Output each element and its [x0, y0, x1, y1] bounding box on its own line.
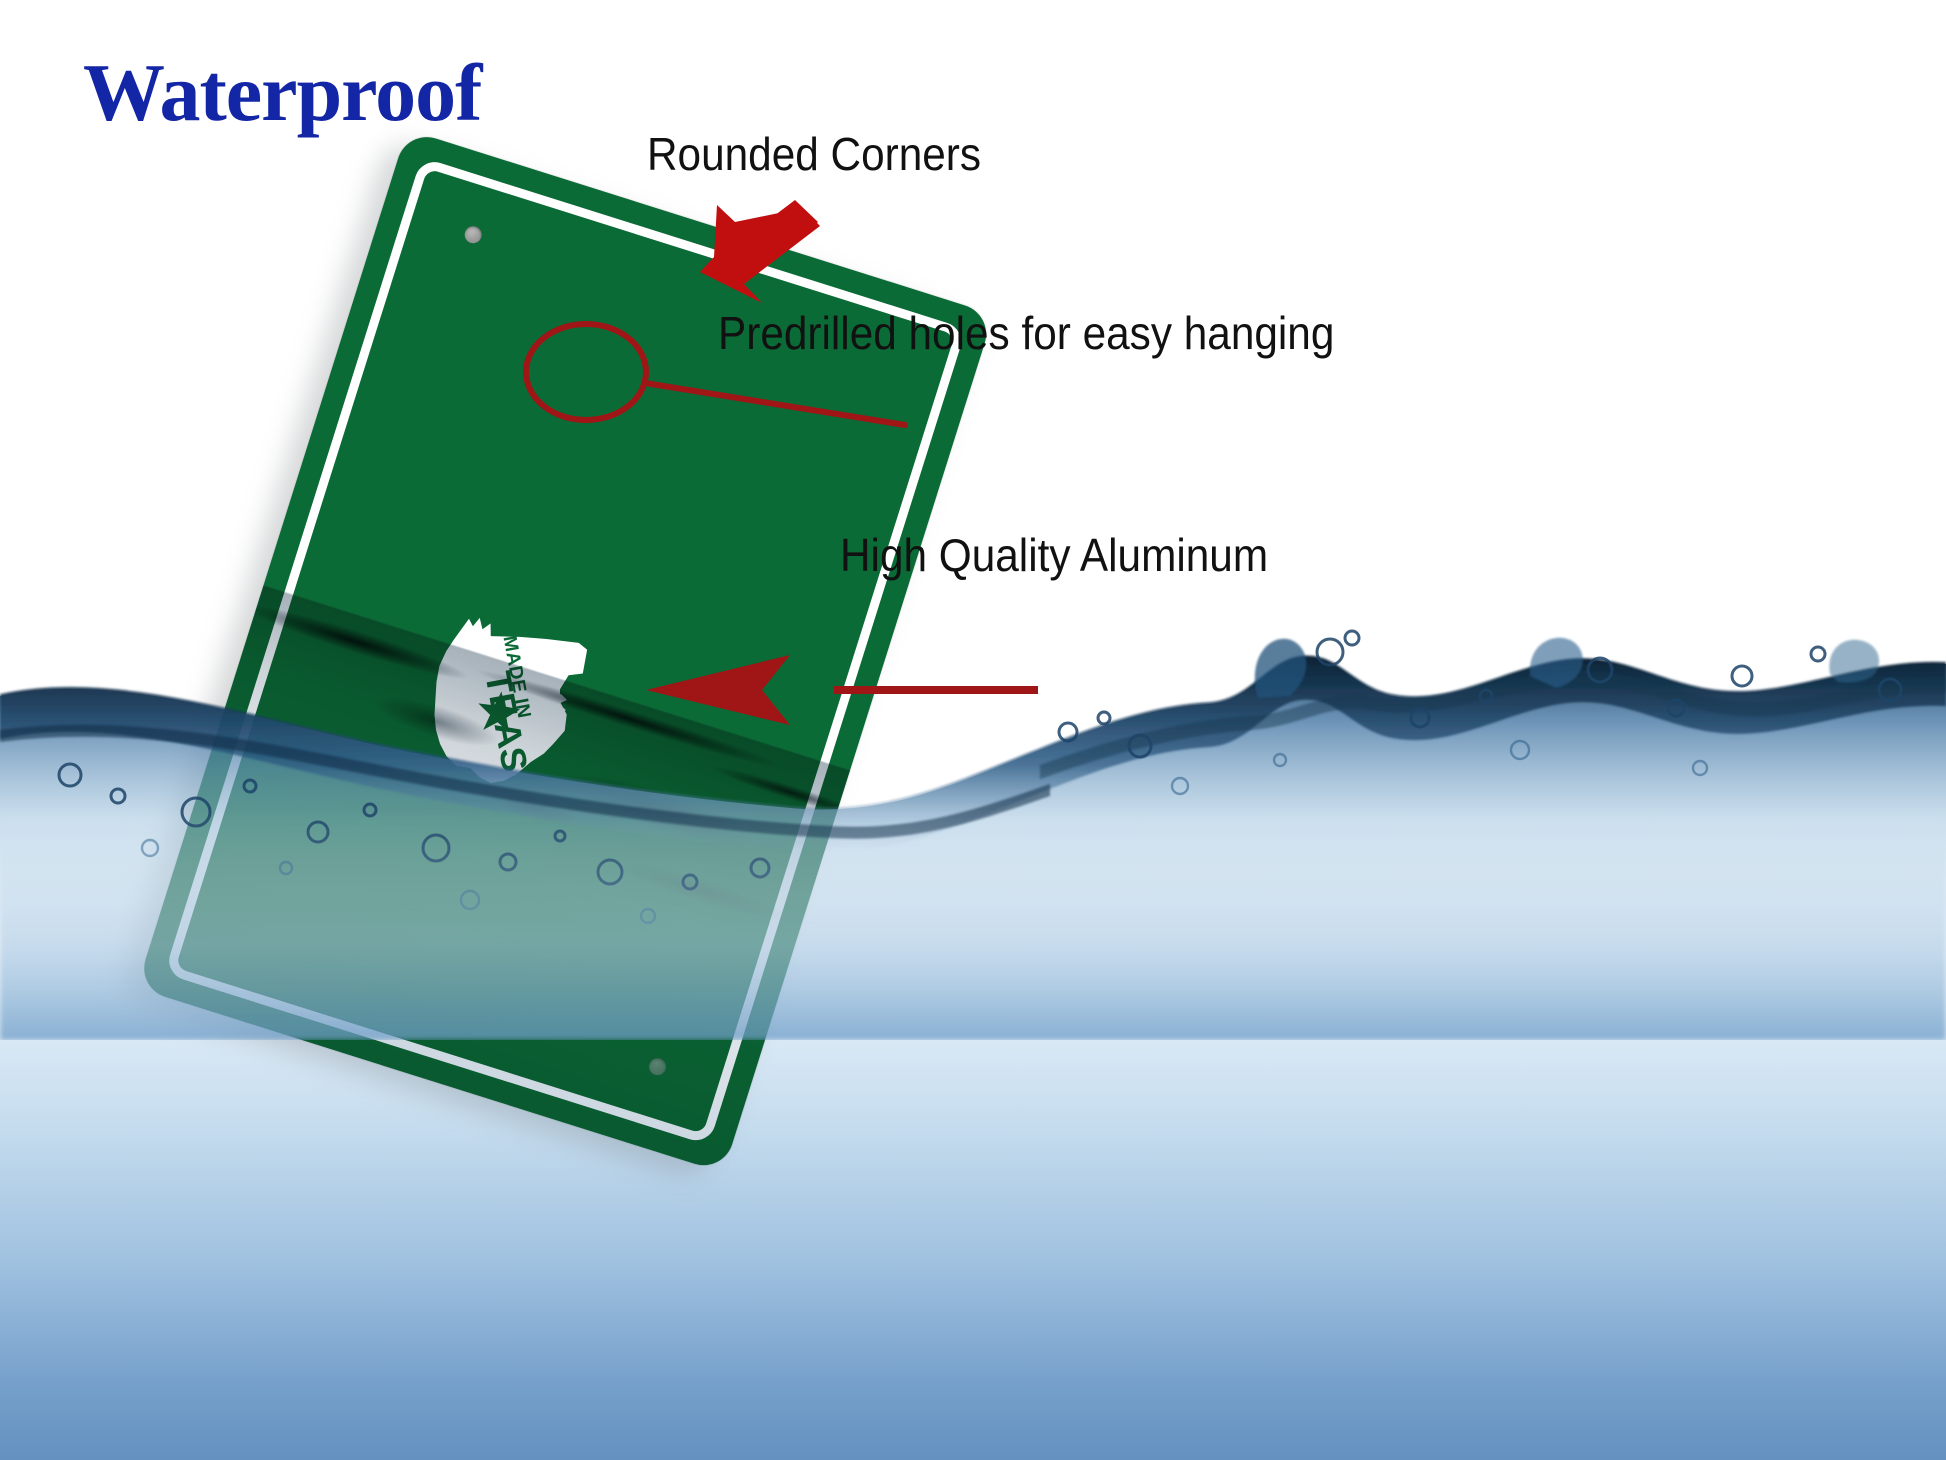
label-high-quality-aluminum: High Quality Aluminum — [840, 528, 1268, 582]
product-feature-graphic: MADE IN TE AS — [0, 0, 1946, 1460]
label-predrilled-holes: Predrilled holes for easy hanging — [718, 306, 1334, 360]
label-rounded-corners: Rounded Corners — [647, 127, 981, 181]
page-title: Waterproof — [83, 52, 481, 134]
